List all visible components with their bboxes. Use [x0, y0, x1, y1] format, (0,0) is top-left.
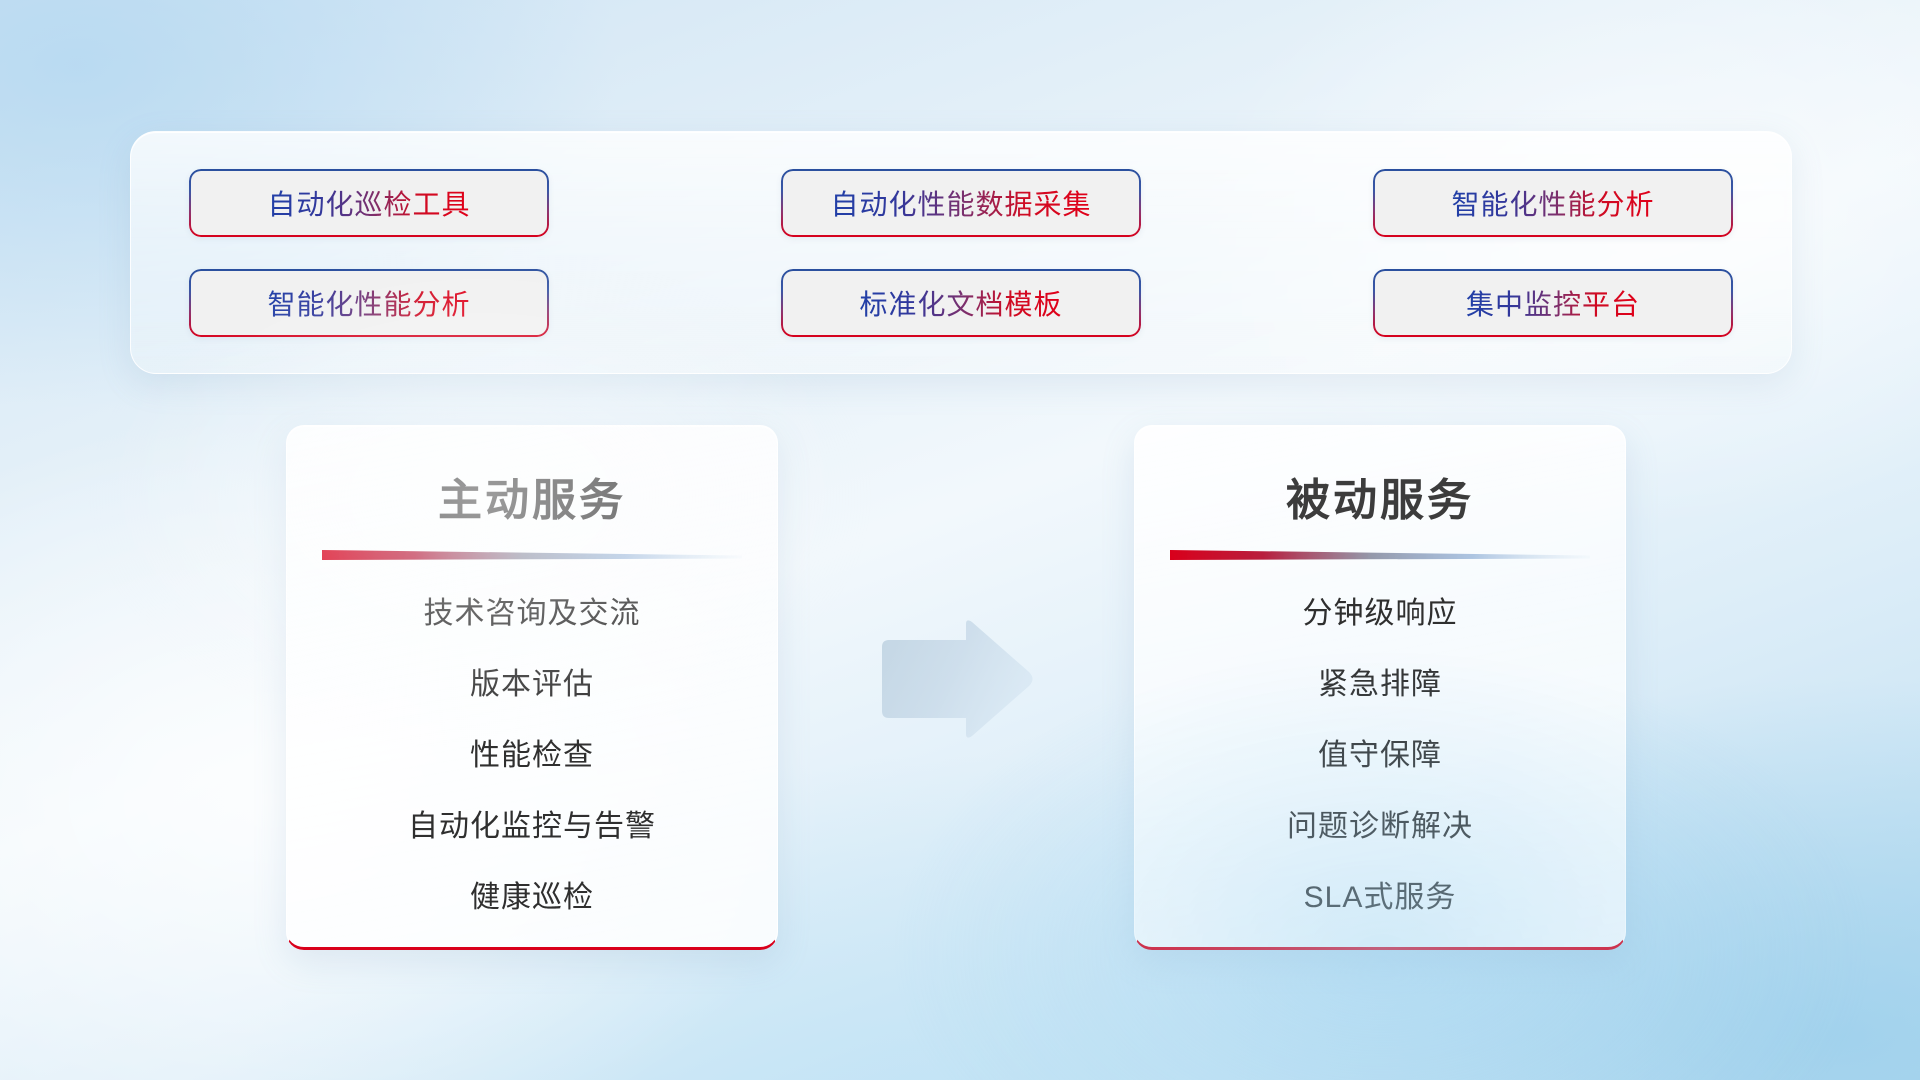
card-divider	[322, 548, 742, 562]
right-arrow-icon	[876, 620, 1036, 738]
card-proactive-service: 主动服务 技术咨询及交流 版本评估 性能检查 自动化监控与告警	[286, 425, 778, 950]
capability-pill-automated-inspection-tool[interactable]: 自动化巡检工具	[189, 169, 549, 237]
list-item: 健康巡检	[470, 872, 594, 916]
list-item: 版本评估	[470, 659, 594, 703]
card-item-list: 技术咨询及交流 版本评估 性能检查 自动化监控与告警 健康巡检	[287, 588, 777, 916]
capability-row-2: 智能化性能分析 标准化文档模板 集中监控平台	[189, 269, 1733, 337]
capability-pill-label: 集中监控平台	[1466, 283, 1640, 323]
card-title: 被动服务	[1286, 464, 1474, 528]
list-item: 技术咨询及交流	[424, 588, 641, 632]
capability-pill-label: 自动化巡检工具	[267, 183, 470, 223]
capability-pill-standardized-document-template[interactable]: 标准化文档模板	[781, 269, 1141, 337]
list-item: 性能检查	[470, 730, 594, 774]
list-item: 问题诊断解决	[1287, 801, 1473, 845]
slide-canvas: 自动化巡检工具 自动化性能数据采集 智能化性能分析 智能化性能分析 标准化文档模…	[0, 0, 1920, 1080]
capability-pill-label: 智能化性能分析	[267, 283, 470, 323]
capability-pill-label: 智能化性能分析	[1451, 183, 1654, 223]
capability-pill-automated-performance-data-collection[interactable]: 自动化性能数据采集	[781, 169, 1141, 237]
card-reactive-service: 被动服务 分钟级响应 紧急排障 值守保障 问题诊断解决	[1134, 425, 1626, 950]
list-item: 值守保障	[1318, 730, 1442, 774]
list-item: 紧急排障	[1318, 659, 1442, 703]
capability-panel: 自动化巡检工具 自动化性能数据采集 智能化性能分析 智能化性能分析 标准化文档模…	[130, 131, 1792, 374]
capability-pill-label: 标准化文档模板	[859, 283, 1062, 323]
list-item: 分钟级响应	[1303, 588, 1458, 632]
capability-pill-label: 自动化性能数据采集	[830, 183, 1091, 223]
capability-pill-intelligent-performance-analysis-a[interactable]: 智能化性能分析	[1373, 169, 1733, 237]
capability-row-1: 自动化巡检工具 自动化性能数据采集 智能化性能分析	[189, 169, 1733, 237]
capability-pill-centralized-monitoring-platform[interactable]: 集中监控平台	[1373, 269, 1733, 337]
card-title: 主动服务	[438, 464, 626, 528]
capability-pill-intelligent-performance-analysis-b[interactable]: 智能化性能分析	[189, 269, 549, 337]
list-item: 自动化监控与告警	[408, 801, 656, 845]
card-divider	[1170, 548, 1590, 562]
card-item-list: 分钟级响应 紧急排障 值守保障 问题诊断解决 SLA式服务	[1135, 588, 1625, 916]
list-item: SLA式服务	[1304, 872, 1457, 916]
